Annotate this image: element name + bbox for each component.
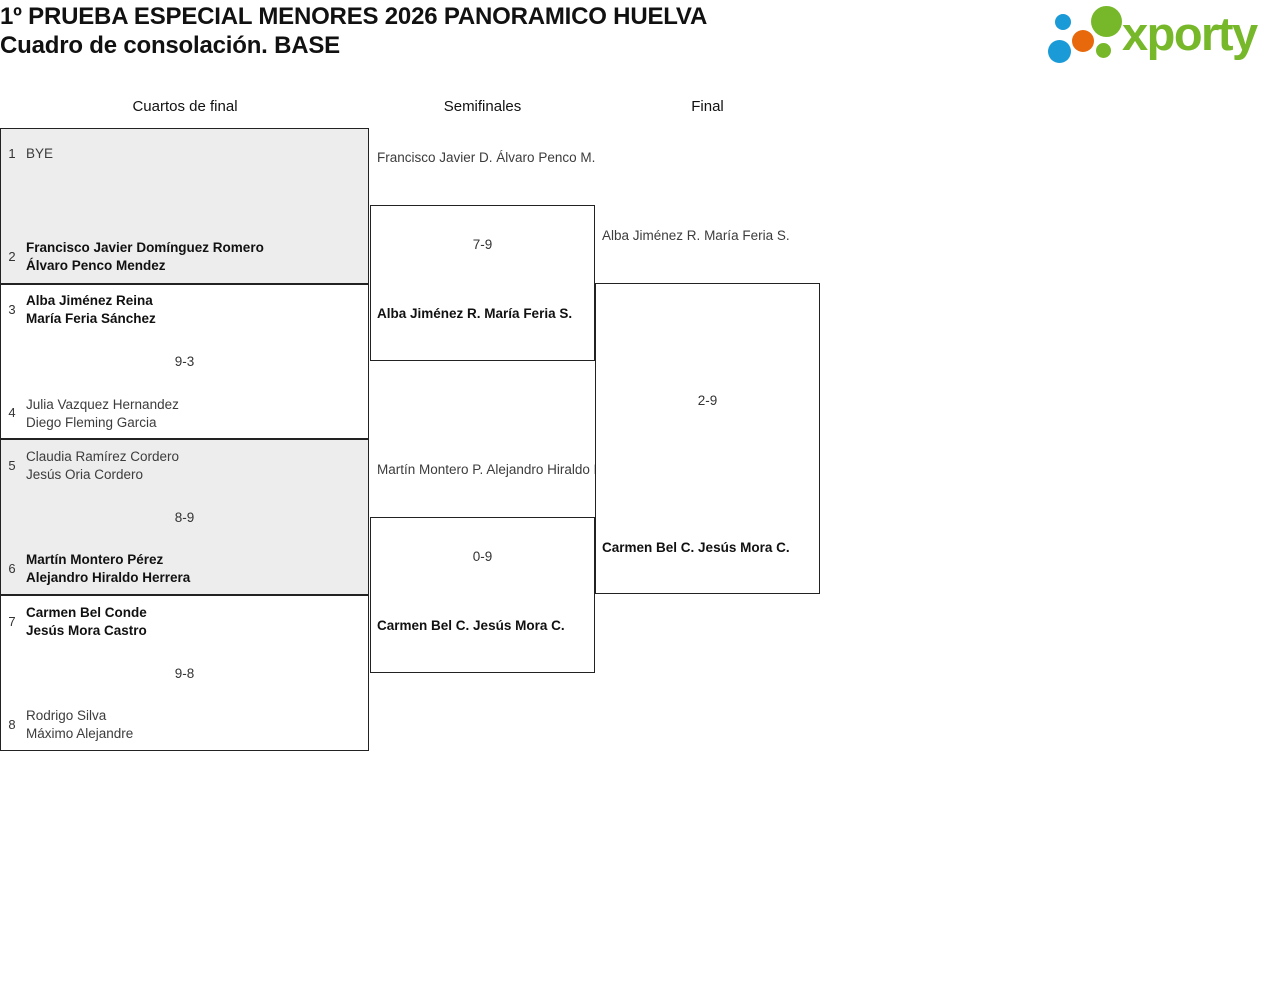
team-player-2: Jesús Oria Cordero: [26, 466, 179, 484]
score-quarterfinal-3: 8-9: [0, 510, 369, 525]
score-quarterfinal-2: 9-3: [0, 354, 369, 369]
match-box-semifinal-2[interactable]: [370, 517, 595, 673]
team-player-2: Alejandro Hiraldo H.: [486, 462, 607, 477]
round-header-quarterfinals: Cuartos de final: [0, 98, 370, 115]
team-quarterfinal-2-top[interactable]: Alba Jiménez Reina María Feria Sánchez: [26, 292, 156, 328]
team-quarterfinal-1-bottom[interactable]: Francisco Javier Domínguez Romero Álvaro…: [26, 239, 264, 275]
team-player-2: Jesús Mora C.: [698, 540, 790, 555]
team-quarterfinal-2-bottom[interactable]: Julia Vazquez Hernandez Diego Fleming Ga…: [26, 396, 179, 432]
team-player-1: Carmen Bel Conde: [26, 605, 147, 620]
team-quarterfinal-4-top[interactable]: Carmen Bel Conde Jesús Mora Castro: [26, 604, 147, 640]
team-semifinal-2-bottom[interactable]: Carmen Bel C. Jesús Mora C.: [377, 617, 565, 635]
team-final-top[interactable]: Alba Jiménez R. María Feria S.: [602, 227, 790, 245]
team-final-bottom-champion[interactable]: Carmen Bel C. Jesús Mora C.: [602, 539, 790, 557]
team-player-1: Carmen Bel C.: [377, 618, 469, 633]
team-player-2: Diego Fleming Garcia: [26, 414, 179, 432]
team-player-2: María Feria S.: [484, 306, 572, 321]
seed-number: 2: [0, 249, 24, 264]
team-player-1: Carmen Bel C.: [602, 540, 694, 555]
match-box-semifinal-1[interactable]: [370, 205, 595, 361]
team-quarterfinal-1-top[interactable]: BYE: [26, 145, 53, 163]
seed-number: 8: [0, 717, 24, 732]
team-player-1: Alba Jiménez R.: [602, 228, 700, 243]
score-semifinal-2: 0-9: [370, 549, 595, 564]
team-player-1: Alba Jiménez R.: [377, 306, 481, 321]
team-semifinal-1-bottom[interactable]: Alba Jiménez R. María Feria S.: [377, 305, 572, 323]
team-player-1: Martín Montero Pérez: [26, 552, 163, 567]
team-player-1: Francisco Javier D.: [377, 150, 493, 165]
round-header-semifinals: Semifinales: [370, 98, 595, 115]
score-final: 2-9: [595, 393, 820, 408]
seed-number: 3: [0, 302, 24, 317]
team-player-1: Martín Montero P.: [377, 462, 483, 477]
team-player-1: BYE: [26, 146, 53, 161]
seed-number: 7: [0, 614, 24, 629]
team-player-2: Alejandro Hiraldo Herrera: [26, 569, 190, 587]
team-player-1: Alba Jiménez Reina: [26, 293, 153, 308]
team-player-2: María Feria S.: [704, 228, 790, 243]
team-player-2: Álvaro Penco M.: [496, 150, 595, 165]
team-player-2: Máximo Alejandre: [26, 725, 133, 743]
team-quarterfinal-4-bottom[interactable]: Rodrigo Silva Máximo Alejandre: [26, 707, 133, 743]
tournament-bracket: Cuartos de final Semifinales Final 1 BYE…: [0, 0, 1280, 982]
team-player-1: Julia Vazquez Hernandez: [26, 397, 179, 412]
team-quarterfinal-3-bottom[interactable]: Martín Montero Pérez Alejandro Hiraldo H…: [26, 551, 190, 587]
team-player-2: Jesús Mora C.: [473, 618, 565, 633]
team-semifinal-2-top[interactable]: Martín Montero P. Alejandro Hiraldo H.: [377, 461, 607, 479]
seed-number: 6: [0, 561, 24, 576]
team-semifinal-1-top[interactable]: Francisco Javier D. Álvaro Penco M.: [377, 149, 595, 167]
team-player-1: Francisco Javier Domínguez Romero: [26, 240, 264, 255]
round-header-final: Final: [595, 98, 820, 115]
team-player-1: Claudia Ramírez Cordero: [26, 449, 179, 464]
team-quarterfinal-3-top[interactable]: Claudia Ramírez Cordero Jesús Oria Corde…: [26, 448, 179, 484]
score-semifinal-1: 7-9: [370, 237, 595, 252]
team-player-2: Jesús Mora Castro: [26, 622, 147, 640]
seed-number: 1: [0, 146, 24, 161]
team-player-2: María Feria Sánchez: [26, 310, 156, 328]
team-player-1: Rodrigo Silva: [26, 708, 106, 723]
seed-number: 4: [0, 405, 24, 420]
score-quarterfinal-4: 9-8: [0, 666, 369, 681]
team-player-2: Álvaro Penco Mendez: [26, 257, 264, 275]
seed-number: 5: [0, 458, 24, 473]
